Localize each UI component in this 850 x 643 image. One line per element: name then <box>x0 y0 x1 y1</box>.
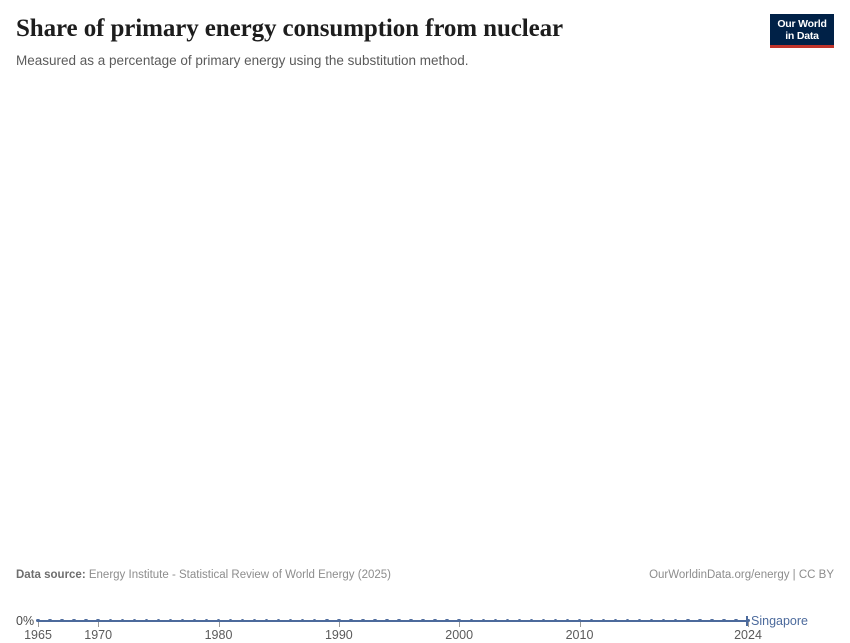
data-point <box>157 619 160 622</box>
data-point <box>181 619 184 622</box>
x-axis-tick-mark <box>98 622 99 627</box>
data-point <box>566 619 569 622</box>
x-axis-tick-mark <box>219 622 220 627</box>
data-point <box>542 619 545 622</box>
data-point <box>482 619 485 622</box>
x-axis-tick-label: 1990 <box>325 628 353 643</box>
data-point <box>650 619 653 622</box>
x-axis-tick-label: 2000 <box>445 628 473 643</box>
x-axis-tick-mark <box>459 622 460 627</box>
x-axis-tick-label: 2024 <box>734 628 762 643</box>
data-point <box>301 619 304 622</box>
data-point <box>145 619 148 622</box>
data-point <box>662 619 665 622</box>
data-point <box>48 619 51 622</box>
data-point <box>60 619 63 622</box>
data-point <box>710 619 713 622</box>
data-point <box>722 619 725 622</box>
data-point <box>518 619 521 622</box>
our-world-in-data-logo[interactable]: Our World in Data <box>770 14 834 48</box>
data-point <box>133 619 136 622</box>
data-point <box>361 619 364 622</box>
data-point <box>614 619 617 622</box>
data-point <box>409 619 412 622</box>
data-point <box>686 619 689 622</box>
data-point <box>626 619 629 622</box>
data-point <box>349 619 352 622</box>
data-point <box>506 619 509 622</box>
x-axis-tick-label: 1965 <box>24 628 52 643</box>
chart-plot-area[interactable]: 0% Singapore 196519701980199020002010202… <box>0 90 850 550</box>
data-point <box>121 619 124 622</box>
data-point <box>554 619 557 622</box>
data-point <box>169 619 172 622</box>
data-point <box>229 619 232 622</box>
data-point <box>494 619 497 622</box>
data-point <box>325 619 328 622</box>
data-point <box>277 619 280 622</box>
series-markers-singapore <box>38 617 750 625</box>
y-axis-tick-label-0: 0% <box>16 614 34 628</box>
data-point <box>385 619 388 622</box>
data-point <box>205 619 208 622</box>
x-axis-tick-mark <box>580 622 581 627</box>
data-point <box>265 619 268 622</box>
x-axis-tick-mark <box>339 622 340 627</box>
data-point <box>84 619 87 622</box>
data-point <box>397 619 400 622</box>
x-axis-tick-mark <box>38 622 39 627</box>
data-point <box>289 619 292 622</box>
footer-data-source-label: Data source: <box>16 569 86 581</box>
page-title: Share of primary energy consumption from… <box>16 14 756 44</box>
data-point <box>638 619 641 622</box>
logo-line-2: in Data <box>775 30 829 45</box>
data-point <box>530 619 533 622</box>
data-point <box>193 619 196 622</box>
chart-header: Share of primary energy consumption from… <box>16 14 756 70</box>
x-axis-tick-label: 2010 <box>566 628 594 643</box>
data-point <box>241 619 244 622</box>
data-point <box>421 619 424 622</box>
chart-footer: Data source: Energy Institute - Statisti… <box>0 568 850 584</box>
data-point <box>734 619 737 622</box>
x-axis-tick-label: 1980 <box>205 628 233 643</box>
data-point <box>109 619 112 622</box>
data-point <box>674 619 677 622</box>
footer-data-source: Data source: Energy Institute - Statisti… <box>16 568 391 583</box>
data-point <box>72 619 75 622</box>
data-point <box>590 619 593 622</box>
x-axis-tick-label: 1970 <box>84 628 112 643</box>
data-point <box>433 619 436 622</box>
series-label-singapore[interactable]: Singapore <box>751 614 808 628</box>
chart-subtitle: Measured as a percentage of primary ener… <box>16 52 756 70</box>
x-axis: 1965197019801990200020102024 <box>0 90 850 120</box>
data-point <box>313 619 316 622</box>
data-point <box>602 619 605 622</box>
data-point <box>445 619 448 622</box>
data-point <box>470 619 473 622</box>
data-point <box>373 619 376 622</box>
footer-license-note[interactable]: OurWorldinData.org/energy | CC BY <box>649 568 834 583</box>
x-axis-tick-mark <box>748 622 749 627</box>
data-point <box>253 619 256 622</box>
logo-line-1: Our World <box>775 18 829 30</box>
footer-data-source-value: Energy Institute - Statistical Review of… <box>86 569 391 581</box>
data-point <box>698 619 701 622</box>
